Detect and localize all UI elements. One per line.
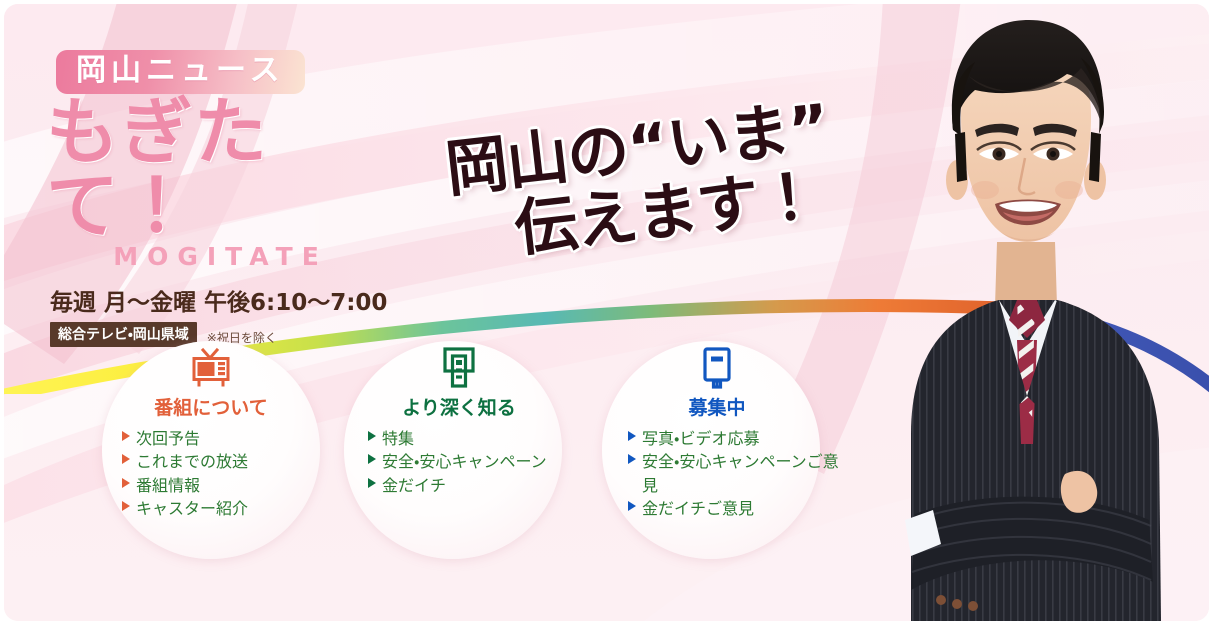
section-links-know-deeper: 特集 安全・安心キャンペーン 金だイチ	[334, 427, 584, 497]
document-magnifier-icon	[334, 344, 584, 392]
nav-link-kanedaichi[interactable]: 金だイチ	[360, 474, 584, 497]
bullet-triangle-icon	[122, 501, 130, 511]
television-icon	[86, 344, 336, 392]
bullet-triangle-icon	[122, 478, 130, 488]
bullet-triangle-icon	[628, 501, 636, 511]
nav-link-safety-campaign-feedback[interactable]: 安全・安心キャンペーンご意見	[620, 450, 842, 497]
nav-link-safety-campaign[interactable]: 安全・安心キャンペーン	[360, 450, 584, 473]
link-label: 金だイチご意見	[642, 499, 754, 518]
section-about-program: 番組について 次回予告 これまでの放送 番組情報 キャスター紹介	[86, 344, 336, 520]
section-know-deeper: より深く知る 特集 安全・安心キャンペーン 金だイチ	[334, 344, 584, 497]
program-website-banner: 岡山ニュース もぎたて！ MOGITATE 毎週 月〜金曜 午後6:10〜7:0…	[0, 0, 1213, 625]
nav-link-features[interactable]: 特集	[360, 427, 584, 450]
link-label: これまでの放送	[136, 452, 248, 471]
link-label: 安全・安心キャンペーンご意見	[642, 452, 839, 494]
section-title-now-recruiting: 募集中	[592, 393, 842, 420]
section-title-know-deeper: より深く知る	[334, 393, 584, 420]
link-label: 写真・ビデオ応募	[642, 429, 759, 448]
nav-link-program-info[interactable]: 番組情報	[114, 474, 336, 497]
bullet-triangle-icon	[368, 431, 376, 441]
bullet-triangle-icon	[628, 431, 636, 441]
bullet-triangle-icon	[628, 454, 636, 464]
section-nav: 番組について 次回予告 これまでの放送 番組情報 キャスター紹介	[4, 4, 1209, 621]
nav-link-next-preview[interactable]: 次回予告	[114, 427, 336, 450]
mailbox-icon	[592, 344, 842, 392]
link-label: 特集	[382, 429, 414, 448]
bullet-triangle-icon	[368, 454, 376, 464]
link-label: 安全・安心キャンペーン	[382, 452, 547, 471]
link-label: 番組情報	[136, 476, 200, 495]
nav-link-photo-video-submission[interactable]: 写真・ビデオ応募	[620, 427, 842, 450]
link-label: キャスター紹介	[136, 499, 248, 518]
nav-link-caster-intro[interactable]: キャスター紹介	[114, 497, 336, 520]
link-label: 金だイチ	[382, 476, 446, 495]
nav-link-kanedaichi-feedback[interactable]: 金だイチご意見	[620, 497, 842, 520]
bullet-triangle-icon	[122, 431, 130, 441]
bullet-triangle-icon	[368, 478, 376, 488]
bullet-triangle-icon	[122, 454, 130, 464]
section-links-now-recruiting: 写真・ビデオ応募 安全・安心キャンペーンご意見 金だイチご意見	[592, 427, 842, 520]
section-now-recruiting: 募集中 写真・ビデオ応募 安全・安心キャンペーンご意見 金だイチご意見	[592, 344, 842, 520]
section-title-about-program: 番組について	[86, 393, 336, 420]
section-links-about-program: 次回予告 これまでの放送 番組情報 キャスター紹介	[86, 427, 336, 520]
nav-link-past-broadcasts[interactable]: これまでの放送	[114, 450, 336, 473]
banner-panel: 岡山ニュース もぎたて！ MOGITATE 毎週 月〜金曜 午後6:10〜7:0…	[4, 4, 1209, 621]
link-label: 次回予告	[136, 429, 200, 448]
